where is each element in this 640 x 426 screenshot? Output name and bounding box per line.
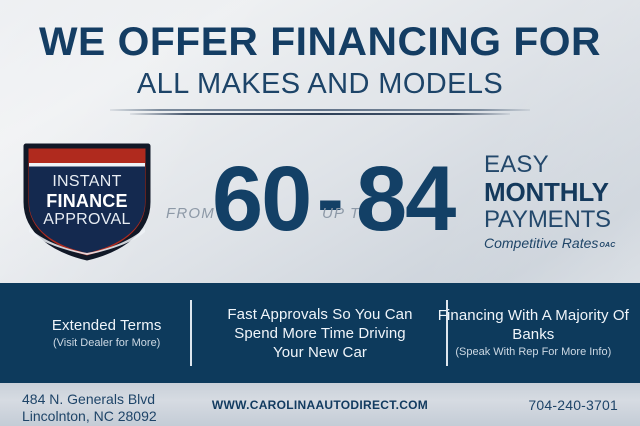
headline-secondary: ALL MAKES AND MODELS [0,68,640,100]
footer-bar: 484 N. Generals Blvd Lincolnton, NC 2809… [0,383,640,426]
shield-icon [20,140,154,262]
feature-column-fast-approvals: Fast Approvals So You Can Spend More Tim… [213,305,426,362]
headline-primary: WE OFFER FINANCING FOR [0,20,640,64]
payments-line-monthly: MONTHLY [484,178,636,206]
range-dash: - [317,153,342,245]
term-range-block: FROM 60 - UP TO 84 [160,150,490,260]
payments-text-block: EASY MONTHLY PAYMENTS Competitive RatesO… [484,152,636,251]
feature-title: Fast Approvals So You Can Spend More Tim… [221,305,418,362]
dealer-phone[interactable]: 704-240-3701 [528,397,618,413]
feature-band: Extended Terms (Visit Dealer for More) F… [0,283,640,383]
feature-subtitle: (Visit Dealer for More) [8,336,205,351]
term-max-value: 84 [356,153,454,245]
feature-title: Extended Terms [8,316,205,335]
divider-rule-bottom [130,113,510,115]
feature-subtitle: (Speak With Rep For More Info) [435,345,632,360]
competitive-rates-text: Competitive Rates [484,235,598,251]
feature-title: Financing With A Majority Of Banks [435,306,632,344]
feature-column-extended-terms: Extended Terms (Visit Dealer for More) [0,316,213,351]
feature-divider-left [190,300,192,366]
headline-divider-group [110,109,530,115]
payments-line-easy: EASY [484,152,636,178]
competitive-rates-note: Competitive RatesOAC [484,235,636,251]
divider-rule-top [110,109,530,111]
instant-finance-approval-badge: INSTANT FINANCE APPROVAL [20,140,154,262]
feature-divider-right [446,300,448,366]
financing-advertisement: WE OFFER FINANCING FOR ALL MAKES AND MOD… [0,0,640,426]
headline-block: WE OFFER FINANCING FOR ALL MAKES AND MOD… [0,20,640,115]
term-min-value: 60 [212,153,310,245]
feature-band-inner: Extended Terms (Visit Dealer for More) F… [0,283,640,383]
feature-column-majority-of-banks: Financing With A Majority Of Banks (Spea… [427,306,640,360]
payments-line-payments: PAYMENTS [484,206,636,233]
oac-disclaimer: OAC [599,242,615,249]
from-label: FROM [166,205,215,222]
